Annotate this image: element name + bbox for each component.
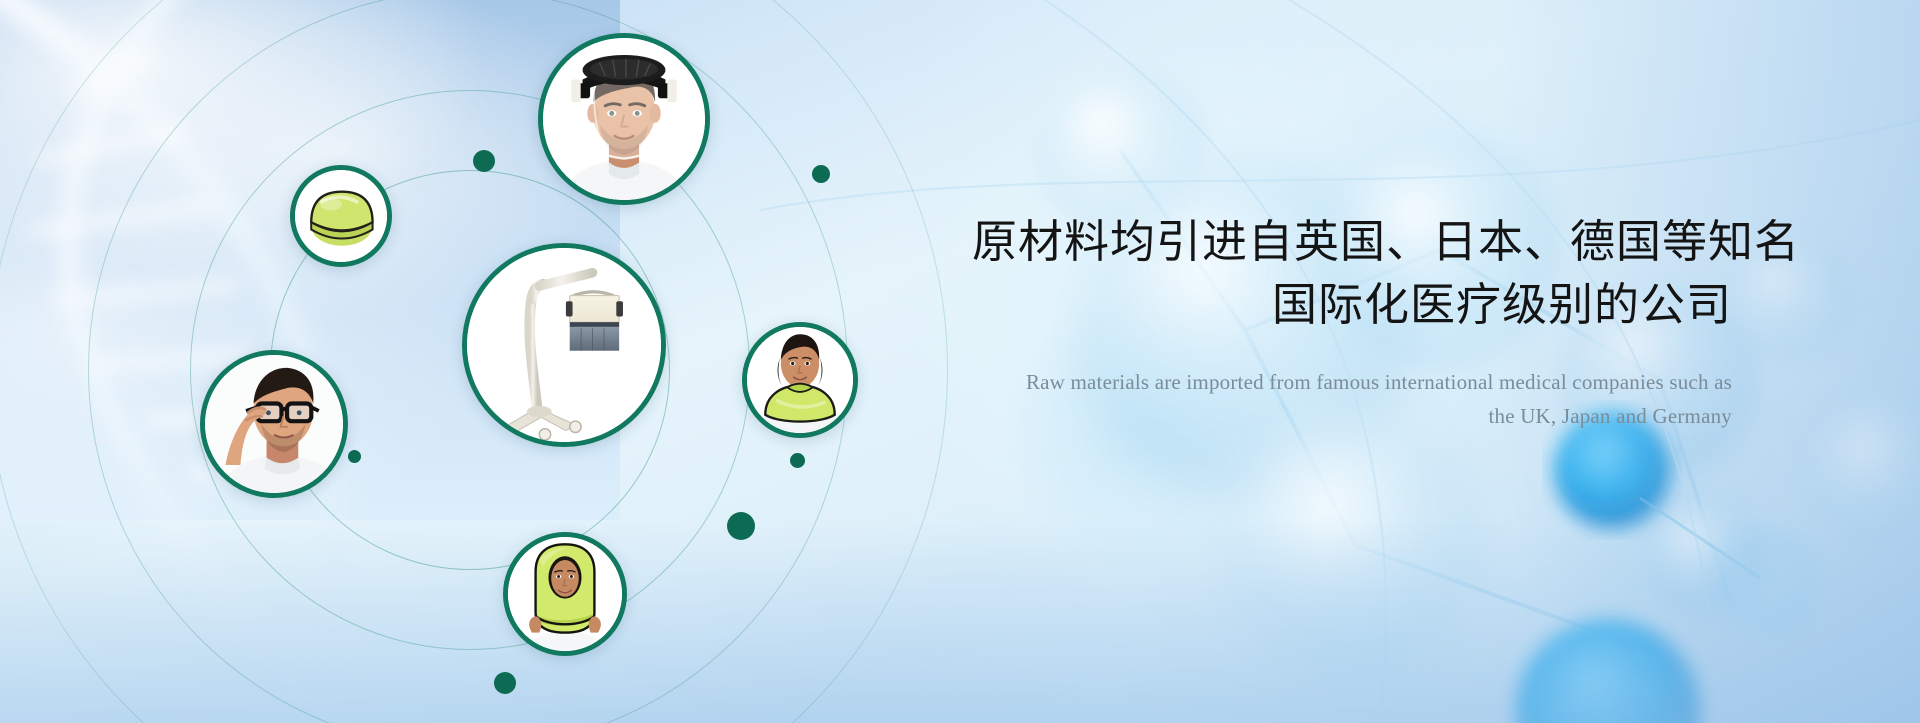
woman-wearing-lime-radiation-protection-hood-illustration	[508, 537, 622, 651]
bubble-image-thyroid-collar-woman	[747, 327, 853, 433]
mobile-x-ray-protection-screen-illustration	[467, 248, 661, 442]
man-wearing-radiation-face-shield-illustration	[543, 38, 705, 200]
woman-wearing-lime-thyroid-shield-collar-illustration	[747, 327, 853, 433]
subtitle-line-1: Raw materials are imported from famous i…	[972, 365, 1732, 400]
bubble-mobile-x-ray-barrier[interactable]	[462, 243, 666, 447]
man-wearing-lead-protection-glasses-illustration	[205, 355, 343, 493]
banner-copy: 原材料均引进自英国、日本、德国等知名 国际化医疗级别的公司 Raw materi…	[972, 212, 1732, 434]
bubble-face-shield-man[interactable]	[538, 33, 710, 205]
subtitle-line-2: the UK, Japan and Germany	[972, 399, 1732, 434]
bubble-lead-glasses-man[interactable]	[200, 350, 348, 498]
headline-line-2: 国际化医疗级别的公司	[972, 275, 1732, 334]
lime-green-radiation-protection-cap-illustration	[295, 170, 387, 262]
bubble-image-lead-glasses-man	[205, 355, 343, 493]
hero-banner: 原材料均引进自英国、日本、德国等知名 国际化医疗级别的公司 Raw materi…	[0, 0, 1920, 723]
blue-sphere-accents	[1516, 412, 1824, 723]
bubble-image-protection-hood-woman	[508, 537, 622, 651]
dot-top-right	[812, 165, 830, 183]
bubble-image-mobile-x-ray-barrier	[467, 248, 661, 442]
dot-bottom	[494, 672, 516, 694]
dot-top-left	[473, 150, 495, 172]
bubble-protection-hood-woman[interactable]	[503, 532, 627, 656]
bubble-image-face-shield-man	[543, 38, 705, 200]
dot-mid-right	[790, 453, 805, 468]
dot-lower-right	[727, 512, 755, 540]
bubble-thyroid-collar-woman[interactable]	[742, 322, 858, 438]
bubble-lead-cap[interactable]	[290, 165, 392, 267]
dot-mid-left	[348, 450, 361, 463]
bubble-image-lead-cap	[295, 170, 387, 262]
headline-line-1: 原材料均引进自英国、日本、德国等知名	[972, 212, 1732, 271]
subtitle: Raw materials are imported from famous i…	[972, 365, 1732, 434]
